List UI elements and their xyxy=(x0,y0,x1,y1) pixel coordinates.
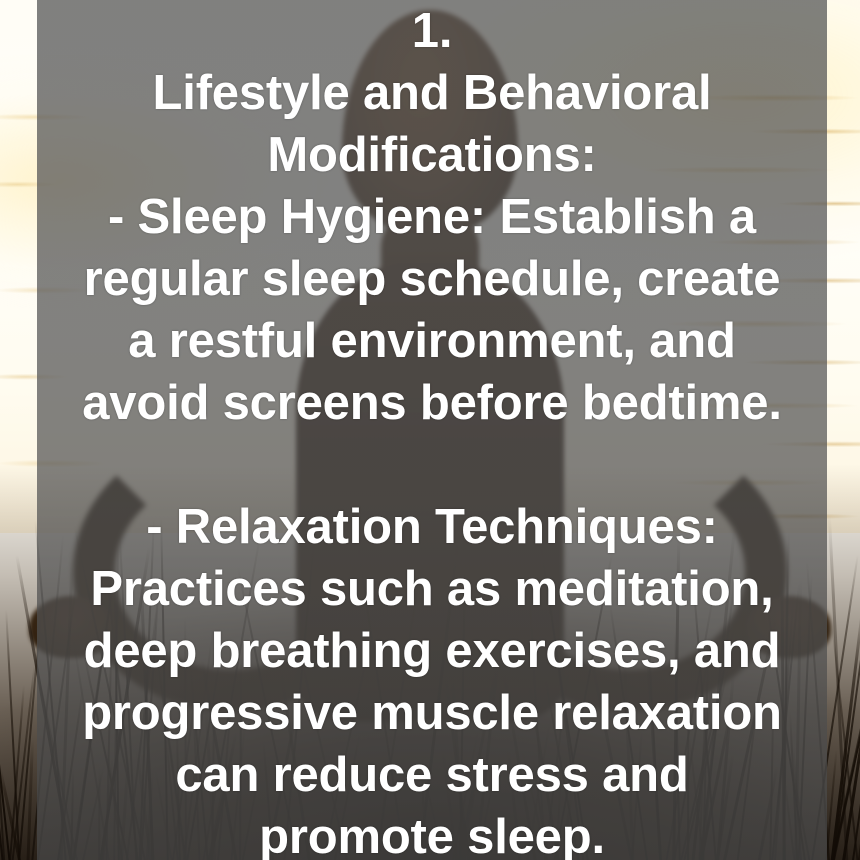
item-0-line-0: - Sleep Hygiene: Establish a xyxy=(51,186,813,248)
caption-text: 1. Lifestyle and Behavioral Modification… xyxy=(37,0,827,860)
relaxation-techniques-paragraph: - Relaxation Techniques: Practices such … xyxy=(51,496,813,860)
item-1-line-2: deep breathing exercises, and xyxy=(51,620,813,682)
item-0-line-1: regular sleep schedule, create xyxy=(51,248,813,310)
item-1-line-1: Practices such as meditation, xyxy=(51,558,813,620)
heading-line-2: Modifications: xyxy=(51,124,813,186)
item-1-line-4: can reduce stress and xyxy=(51,744,813,806)
heading-paragraph: 1. Lifestyle and Behavioral Modification… xyxy=(51,0,813,434)
item-0-line-2: a restful environment, and xyxy=(51,310,813,372)
text-card: 1. Lifestyle and Behavioral Modification… xyxy=(0,0,860,860)
item-1-line-0: - Relaxation Techniques: xyxy=(51,496,813,558)
list-number: 1. xyxy=(51,0,813,62)
item-1-line-5: promote sleep. xyxy=(51,806,813,860)
item-0-line-3: avoid screens before bedtime. xyxy=(51,372,813,434)
heading-line-1: Lifestyle and Behavioral xyxy=(51,62,813,124)
item-1-line-3: progressive muscle relaxation xyxy=(51,682,813,744)
